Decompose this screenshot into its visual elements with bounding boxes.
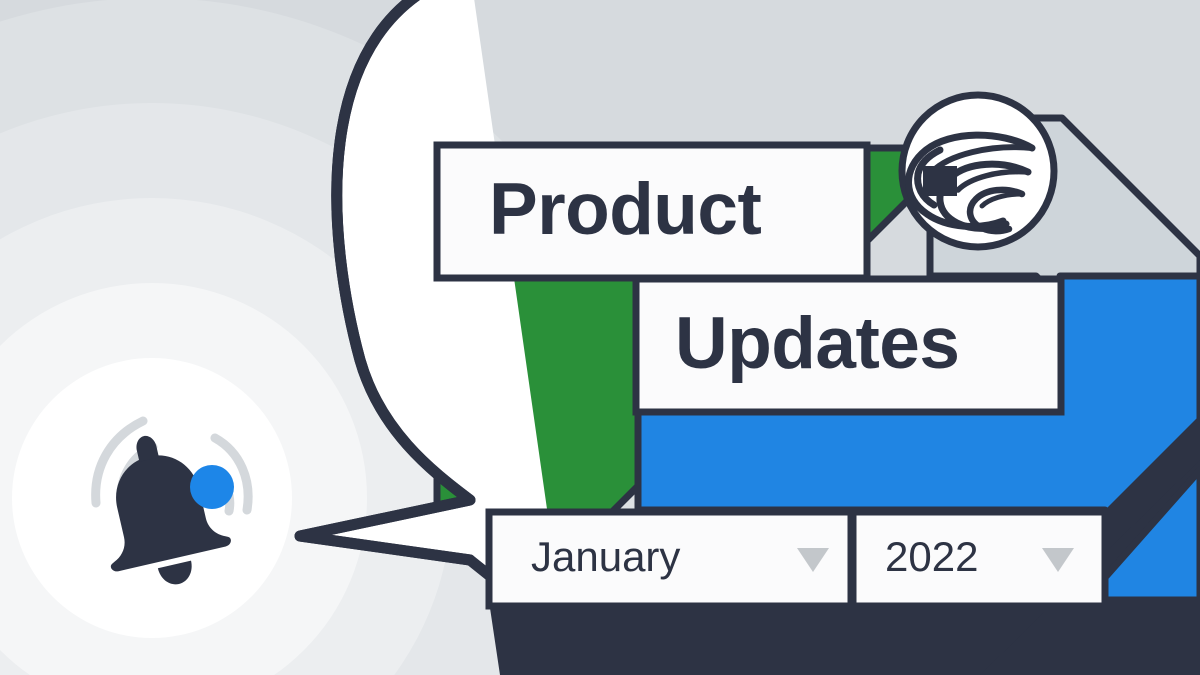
month-select-card[interactable] xyxy=(489,512,851,606)
title-card-updates xyxy=(636,279,1061,412)
banner-artwork xyxy=(0,0,1200,675)
brand-logo-badge[interactable] xyxy=(902,95,1054,247)
title-card-product xyxy=(437,145,867,278)
notification-badge xyxy=(190,465,234,509)
banner-canvas: Product Updates January 2022 xyxy=(0,0,1200,675)
year-select-card[interactable] xyxy=(853,512,1105,606)
